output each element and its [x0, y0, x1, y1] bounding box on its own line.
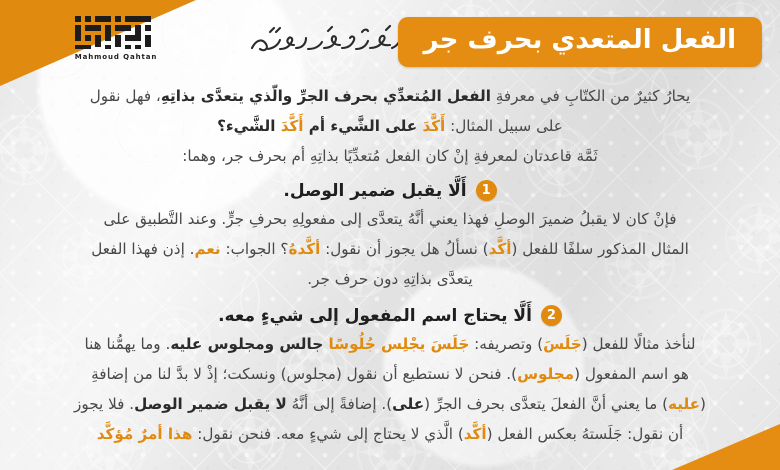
rule2-l1-bold-1: جالس ومجلوس عليه: [170, 335, 328, 353]
handwritten-tagline-icon: [240, 18, 410, 64]
rule-title-1: أَلَّا يقبل ضمير الوصل.: [283, 181, 466, 201]
rule1-l2-highlight-2: أكَّدهُ: [289, 240, 321, 258]
rule2-l1-highlight-2: جَلَسَ يجْلِس جُلُوسًا: [328, 335, 469, 353]
rule1-l2-text-c: ؟ الجواب:: [221, 240, 289, 258]
rule1-l2-text-d: . إذن فهذا الفعل: [91, 240, 194, 258]
intro-line1-bold: الفعل المُتعدِّي بحرف الجرِّ والّذي يتعد…: [161, 87, 491, 105]
brand-logo: Mahmoud Qahtan: [70, 14, 162, 68]
intro-line1-text-a: يحارُ كثيرٌ من الكتّابِ في معرفةِ: [491, 87, 690, 105]
rule2-l1-highlight-1: جَلَسَ: [543, 335, 582, 353]
rule2-l3-text-c: ). إضافةً إلى أنَّهُ: [287, 395, 392, 413]
rule2-l2-text-a: هو اسم المفعول (: [574, 365, 689, 383]
rule-2-body-line-4: أن نقول: جَلَستهُ بعكس الفعل (أكَّد) الَ…: [18, 420, 762, 448]
intro-line-3: ثَمَّة قاعدتان لمعرفةِ إنْ كان الفعل مُت…: [18, 142, 762, 170]
rule-title-2: أَلَّا يحتاج اسم المفعول إلى شيءٍ معه.: [218, 306, 532, 326]
rule2-l2-text-b: ). فنحن لا نستطيع أن نقول (مجلوس) ونسكت؛…: [91, 365, 517, 383]
rule-1-body-line-1: فإنْ كان لا يقبلُ ضميرَ الوصلِ فهذا يعني…: [18, 205, 762, 233]
rule2-l3-bold-2: لا يقبل ضمير الوصل: [134, 395, 287, 413]
intro-line-2: على سبيل المثال: أَكَّدَ على الشَّيء أم …: [18, 112, 762, 140]
rule2-l4-highlight-1: أكَّد: [464, 425, 487, 443]
intro-line1-text-b: ، فهل نقول: [90, 87, 161, 105]
rule-number-badge-1: 1: [476, 180, 497, 201]
rule-number-badge-2: 2: [541, 305, 562, 326]
rule2-l1-text-b: ) وتصريفه:: [469, 335, 543, 353]
rule2-l3-text-a: (: [700, 395, 706, 413]
rule1-l2-text-a: المثال المذكور سلفًا للفعل (: [511, 240, 688, 258]
rule-1-body-line-2: المثال المذكور سلفًا للفعل (أكَّد) نسألُ…: [18, 235, 762, 263]
kufic-logo-icon: [73, 14, 159, 52]
rule1-l2-highlight-1: أكَّد: [489, 240, 512, 258]
intro-line2-bold-c: الشَّيء؟: [217, 117, 281, 135]
script-tagline: [240, 18, 410, 64]
rule2-l4-highlight-2: هذا أمرٌ مُؤكَّد: [97, 425, 193, 443]
intro-line2-text-a: على سبيل المثال:: [445, 117, 563, 135]
rule2-l3-highlight-1: عليه: [668, 395, 700, 413]
rule2-l1-text-c: . وما يهمُّنا هنا: [84, 335, 170, 353]
rule-1-body-line-3: يتعدَّى بذاتِهِ دون حرف جر.: [18, 265, 762, 293]
poster-title-banner: الفعل المتعدي بحرف جر: [398, 17, 762, 67]
intro-line2-highlight-1: أَكَّدَ: [422, 117, 445, 135]
rule-2-body-line-1: لنأخذ مثالًا للفعل (جَلَسَ) وتصريفه: جَل…: [18, 330, 762, 358]
intro-line2-highlight-2: أَكَّدَ: [281, 117, 304, 135]
intro-line2-bold-b: على الشَّيء أم: [304, 117, 423, 135]
page-title: الفعل المتعدي بحرف جر: [424, 27, 736, 53]
rule-heading-2: 2 أَلَّا يحتاج اسم المفعول إلى شيءٍ معه.: [18, 305, 762, 326]
rule2-l2-highlight-1: مجلوس: [517, 365, 574, 383]
rule-2-body-line-3: (عليه) ما يعني أنَّ الفعلَ يتعدَّى بحرف …: [18, 390, 762, 418]
rule2-l1-text-a: لنأخذ مثالًا للفعل (: [582, 335, 696, 353]
rule2-l3-text-d: . فلا يجوز: [74, 395, 134, 413]
logo-latin-name: Mahmoud Qahtan: [75, 53, 158, 61]
intro-line-1: يحارُ كثيرٌ من الكتّابِ في معرفةِ الفعل …: [18, 82, 762, 110]
rule-heading-1: 1 أَلَّا يقبل ضمير الوصل.: [18, 180, 762, 201]
rule2-l4-text-a: أن نقول: جَلَستهُ بعكس الفعل (: [487, 425, 684, 443]
rule2-l4-text-b: ) الَّذي لا يحتاج إلى شيءٍ معه. فنحن نقو…: [192, 425, 463, 443]
rule-2-body-line-2: هو اسم المفعول (مجلوس). فنحن لا نستطيع أ…: [18, 360, 762, 388]
rule1-l2-text-b: ) نسألُ هل يجوز أن نقول:: [320, 240, 488, 258]
poster-body: يحارُ كثيرٌ من الكتّابِ في معرفةِ الفعل …: [18, 82, 762, 450]
rule1-l2-highlight-3: نعم: [194, 240, 220, 258]
poster-canvas: Mahmoud Qahtan: [0, 0, 780, 470]
rule2-l3-bold-1: على: [392, 395, 424, 413]
poster-header: Mahmoud Qahtan: [0, 0, 780, 80]
rule2-l3-text-b: ) ما يعني أنَّ الفعلَ يتعدَّى بحرف الجرِ…: [424, 395, 668, 413]
